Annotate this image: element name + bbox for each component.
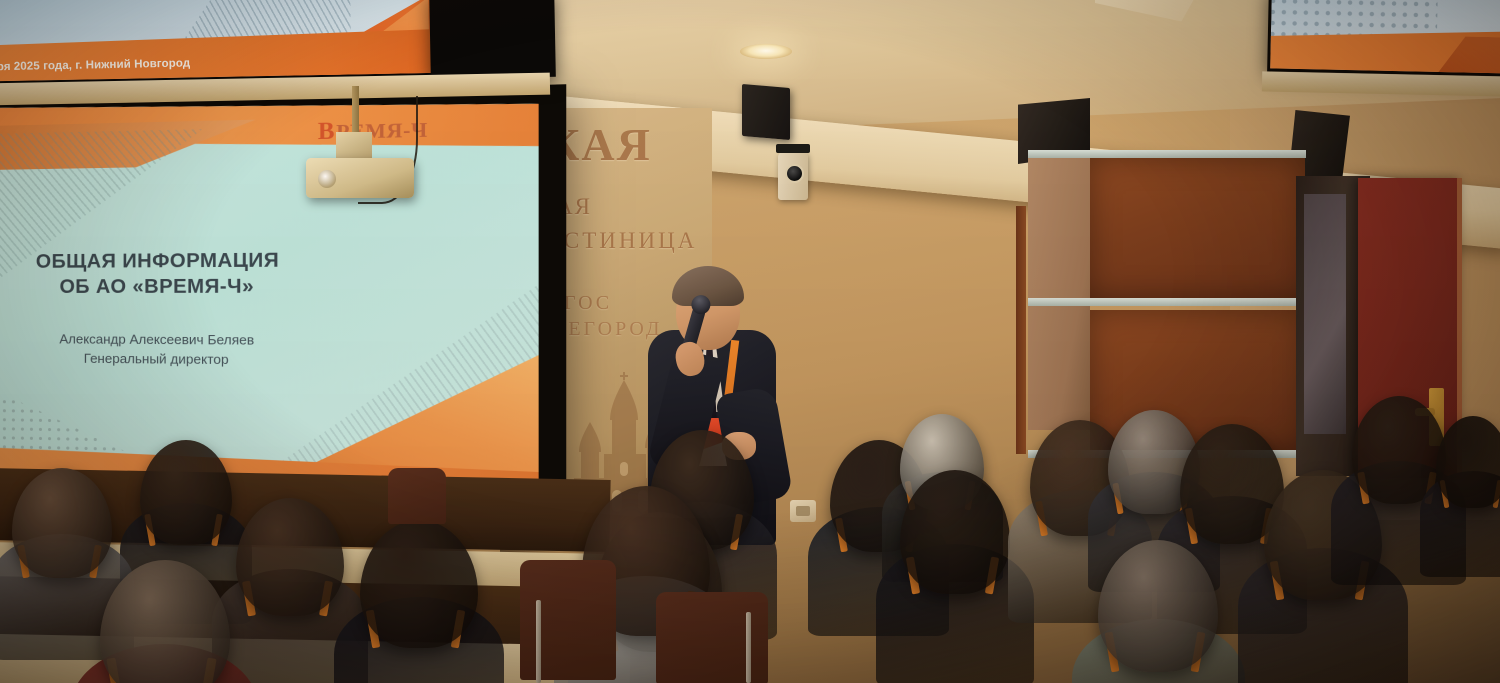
audience-member (900, 470, 1010, 594)
wall-socket-icon (790, 500, 816, 522)
chair-leg (536, 600, 541, 683)
chair-leg (746, 612, 751, 683)
tv-monitor-left-dark-panel (429, 0, 556, 79)
chair (656, 592, 768, 683)
chair (388, 468, 446, 524)
conference-room-photo: КАЯ АЯ ОСТИНИЦА ГОС КЕГОРОД (0, 0, 1500, 683)
audience-member-head (900, 470, 1010, 594)
mural-line-1: КАЯ (552, 118, 652, 171)
audience-member-head (100, 560, 230, 683)
audience-member-head (1436, 416, 1500, 508)
audience-member (360, 520, 478, 648)
column-side-face (1028, 158, 1090, 430)
tv-monitor-left: бря 2025 года, г. Нижний Новгород (0, 0, 443, 84)
column-trim-top (1028, 150, 1306, 158)
mural-line-3: ОСТИНИЦА (552, 228, 697, 254)
mural-line-4: КЕГОРОД (552, 318, 663, 341)
audience-member (236, 498, 344, 616)
mural-line-5: ГОС (564, 292, 612, 315)
presentation-slide: ВРЕМЯ-Ч ОБЩАЯ ИНФОРМАЦИЯ ОБ АО «ВРЕМЯ-Ч»… (0, 94, 539, 505)
audience-member-head (236, 498, 344, 616)
tv-monitor-right: 2 (1267, 0, 1500, 77)
downlight-icon (740, 44, 792, 59)
ceiling-projector-icon (306, 158, 414, 198)
audience-member-head (140, 440, 232, 545)
column-panel-upper (1090, 158, 1305, 298)
audience-member (12, 468, 112, 578)
audience-member-head (12, 468, 112, 578)
column-left-strip (1016, 206, 1026, 454)
audience-member (1436, 416, 1500, 508)
slide-speaker-name: Александр Алексеевич Беляев (0, 330, 331, 351)
ceiling-speaker-center (742, 84, 790, 140)
audience-member (100, 560, 230, 683)
audience-member (140, 440, 232, 545)
slide-speaker-role: Генеральный директор (0, 349, 331, 371)
audience-member-head (1098, 540, 1218, 672)
security-camera-icon (778, 152, 808, 200)
slide-title-line1: ОБЩАЯ ИНФОРМАЦИЯ (0, 248, 331, 275)
tv-right-slide: 2 (1270, 0, 1500, 74)
audience-member-head (360, 520, 478, 648)
projection-screen: ВРЕМЯ-Ч ОБЩАЯ ИНФОРМАЦИЯ ОБ АО «ВРЕМЯ-Ч»… (0, 84, 566, 516)
tv-left-slide: бря 2025 года, г. Нижний Новгород (0, 0, 440, 81)
column-trim-mid (1028, 298, 1306, 306)
audience-member (1098, 540, 1218, 672)
slide-title-line2: ОБ АО «ВРЕМЯ-Ч» (0, 274, 331, 300)
ceiling-notch (1095, 0, 1215, 25)
chair (520, 560, 616, 680)
slide-subtitle: Александр Алексеевич Беляев Генеральный … (0, 330, 331, 371)
slide-logo-mark: В (318, 118, 335, 146)
slide-title: ОБЩАЯ ИНФОРМАЦИЯ ОБ АО «ВРЕМЯ-Ч» (0, 248, 331, 300)
